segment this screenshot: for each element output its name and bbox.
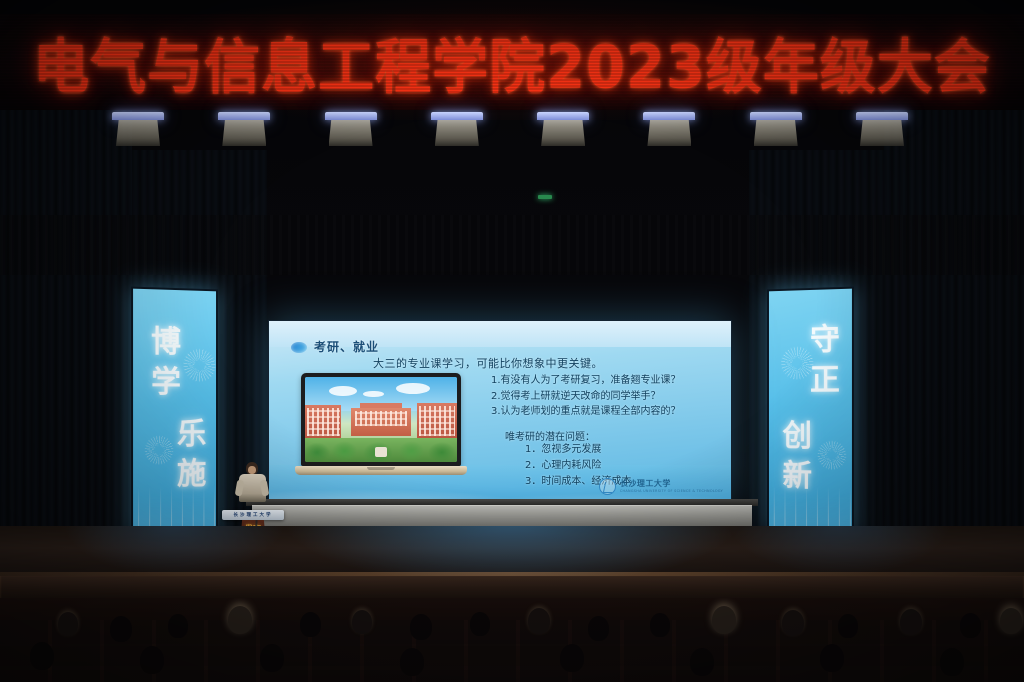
slide-question-list: 1.有没有人为了考研复习，准备翘专业课？ 2.觉得考上研就逆天改命的同学举手？ … — [491, 373, 729, 420]
laptop-screen-image — [305, 377, 457, 462]
stage-light-icon — [854, 112, 910, 148]
university-logo: 长沙理工大学 CHANGSHA UNIVERSITY OF SCIENCE & … — [599, 478, 723, 495]
projection-screen: 考研、就业 大三的专业课学习，可能比你想象中更关键。 1.有没有人为了考研复习，… — [268, 320, 732, 506]
right-panel-char-1: 守 — [810, 325, 840, 356]
laptop-notch — [367, 467, 395, 470]
audience-area — [0, 598, 1024, 682]
stage-curtain-right — [884, 100, 1024, 580]
slide-risk-2: 2．心理内耗风险 — [525, 458, 725, 474]
screen-riser-table — [252, 505, 752, 527]
slide-risk-heading: 唯考研的潜在问题： — [505, 428, 595, 443]
left-panel-char-2: 学 — [151, 368, 181, 398]
university-name-cn: 长沙理工大学 — [620, 480, 723, 489]
slide-risk-1: 1．忽视多元发展 — [525, 442, 725, 458]
slide-question-3: 3.认为老师划的重点就是课程全部内容的？ — [491, 404, 729, 420]
slide-question-1: 1.有没有人为了考研复习，准备翘专业课？ — [491, 373, 729, 389]
right-panel-char-3: 创 — [783, 422, 812, 452]
ceiling-light-rail — [110, 112, 910, 160]
right-led-panel: 守 正 创 新 — [767, 287, 854, 538]
stage-truss — [0, 215, 1024, 275]
stage-curtain-left — [0, 100, 132, 580]
laptop-lid — [301, 373, 461, 466]
slide-subtitle: 大三的专业课学习，可能比你想象中更关键。 — [373, 355, 603, 371]
university-emblem-icon — [599, 478, 616, 495]
university-name-en: CHANGSHA UNIVERSITY OF SCIENCE & TECHNOL… — [620, 489, 723, 493]
stage-light-icon — [216, 112, 272, 148]
stage-light-icon — [535, 112, 591, 148]
stage-light-icon — [110, 112, 166, 148]
speaker-face — [248, 466, 256, 474]
left-panel-char-3: 乐 — [177, 420, 206, 450]
slide-title: 考研、就业 — [314, 338, 379, 355]
left-led-panel: 博 学 乐 施 — [131, 287, 218, 538]
stage-light-icon — [323, 112, 379, 148]
stage-light-icon — [429, 112, 485, 148]
left-panel-char-1: 博 — [151, 327, 181, 358]
slide-bullet-icon — [291, 342, 307, 353]
laptop-illustration — [295, 373, 467, 481]
podium-nameplate: 长沙理工大学 — [226, 512, 280, 518]
led-banner-text: 电气与信息工程学院2023级年级大会 — [33, 19, 991, 105]
right-panel-char-2: 正 — [810, 366, 840, 396]
auditorium-scene: 电气与信息工程学院2023级年级大会 博 学 乐 施 守 正 创 新 — [0, 0, 1024, 682]
led-banner: 电气与信息工程学院2023级年级大会 — [0, 14, 1024, 110]
slide-question-2: 2.觉得考上研就逆天改命的同学举手？ — [491, 389, 729, 405]
stage-light-icon — [641, 112, 697, 148]
stage-light-icon — [748, 112, 804, 148]
green-indicator-led — [538, 195, 552, 199]
